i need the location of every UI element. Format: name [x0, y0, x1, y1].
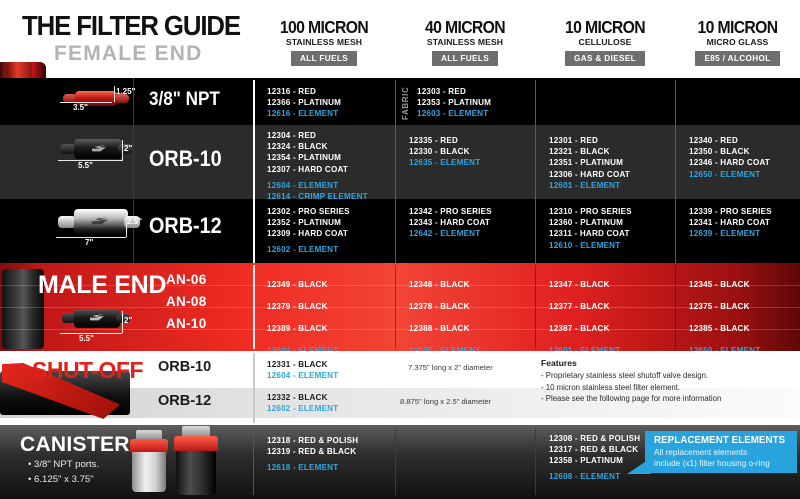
cell-shutoff-orb12: 12332 - BLACK 12602 - ELEMENT	[253, 392, 395, 414]
column-header-40-micron: 40 MICRON STAINLESS MESH ALL FUELS	[395, 18, 535, 66]
female-end-section: 3.5" 1.25" 3/8" NPT 12316 - RED 12366 - …	[0, 78, 800, 263]
column-micron-label: 10 MICRON	[681, 18, 794, 36]
column-fuel-badge: E85 / ALCOHOL	[695, 51, 779, 66]
filter-guide-page: THE FILTER GUIDE FEMALE END 100 MICRON S…	[0, 0, 800, 499]
cell-male-40micron: 12348 - BLACK 12378 - BLACK 12388 - BLAC…	[395, 274, 535, 362]
npt-dim-dia-line	[114, 86, 115, 102]
cell-orb12-40micron: 12342 - PRO SERIES 12343 - HARD COAT 126…	[395, 206, 535, 240]
cell-npt-100micron: 12316 - RED 12366 - PLATINUM 12616 - ELE…	[253, 86, 395, 120]
row-label-npt: 3/8" NPT	[149, 89, 220, 111]
column-fuel-badge: ALL FUELS	[432, 51, 498, 66]
label-column-divider	[133, 78, 134, 263]
cell-canister-100micron: 12318 - RED & POLISH 12319 - RED & BLACK…	[253, 435, 395, 474]
column-header-10-micron-cellulose: 10 MICRON CELLULOSE GAS & DIESEL	[535, 18, 675, 66]
replacement-badge-text: All replacement elements include (x1) fi…	[645, 446, 797, 468]
column-header-10-micron-microglass: 10 MICRON MICRO GLASS E85 / ALCOHOL	[675, 18, 800, 66]
male-dim-dia-line	[122, 311, 123, 333]
canister-column-divider-2	[395, 429, 396, 495]
cell-male-10micron-microglass: 12345 - BLACK 12375 - BLACK 12385 - BLAC…	[675, 274, 800, 362]
page-title: THE FILTER GUIDE	[22, 10, 240, 42]
column-header-100-micron: 100 MICRON STAINLESS MESH ALL FUELS	[253, 18, 395, 66]
canister-bullet-2: • 6.125" x 3.75"	[28, 474, 94, 485]
replacement-badge-title: REPLACEMENT ELEMENTS	[645, 431, 797, 446]
orb12-dim-length: 7"	[85, 238, 93, 247]
column-media-label: CELLULOSE	[535, 37, 675, 47]
features-box: Features - Proprietary stainless steel s…	[541, 358, 791, 405]
features-title: Features	[541, 358, 791, 368]
column-fuel-badge: GAS & DIESEL	[565, 51, 645, 66]
female-end-subtitle: FEMALE END	[54, 42, 203, 66]
column-media-label: STAINLESS MESH	[253, 37, 395, 47]
cell-orb10-100micron: 12304 - RED 12324 - BLACK 12354 - PLATIN…	[253, 130, 395, 202]
male-size-an06: AN-06	[166, 272, 207, 287]
feature-item: - Please see the following page for more…	[541, 393, 791, 405]
male-size-an10: AN-10	[166, 316, 207, 331]
column-media-label: STAINLESS MESH	[395, 37, 535, 47]
male-size-an08: AN-08	[166, 294, 207, 309]
cell-orb12-10micron-microglass: 12339 - PRO SERIES 12341 - HARD COAT 126…	[675, 206, 800, 240]
npt-dim-diameter: 1.25"	[116, 87, 135, 96]
feature-item: - 10 micron stainless steel filter eleme…	[541, 382, 791, 394]
male-dim-diameter: 2"	[124, 316, 132, 325]
shutoff-label-orb10: ORB-10	[158, 359, 211, 375]
male-end-section: MALE END 5.5" 2" AN-06 AN-08 AN-10 12349…	[0, 263, 800, 351]
orb10-dim-length: 5.5"	[78, 161, 93, 170]
cell-orb10-10micron-microglass: 12340 - RED 12350 - BLACK 12346 - HARD C…	[675, 135, 800, 180]
column-micron-label: 40 MICRON	[402, 18, 528, 36]
cell-shutoff-orb10: 12331 - BLACK 12604 - ELEMENT	[253, 359, 395, 381]
npt-dim-length: 3.5"	[73, 103, 88, 112]
canister-title: CANISTER	[20, 433, 130, 457]
orb10-dim-dia-line	[122, 140, 123, 161]
cell-orb12-100micron: 12302 - PRO SERIES 12352 - PLATINUM 1230…	[253, 206, 395, 255]
page-header: THE FILTER GUIDE FEMALE END 100 MICRON S…	[0, 0, 800, 78]
cell-orb10-40micron: 12335 - RED 12330 - BLACK 12635 - ELEMEN…	[395, 135, 535, 169]
shutoff-title: SHUT-OFF	[32, 357, 143, 384]
cell-male-100micron: 12349 - BLACK 12379 - BLACK 12389 - BLAC…	[253, 274, 395, 362]
replacement-elements-badge: REPLACEMENT ELEMENTS All replacement ele…	[645, 431, 797, 473]
column-micron-label: 10 MICRON	[542, 18, 668, 36]
shutoff-dim-orb12: 8.875" long x 2.5" diameter	[400, 397, 491, 406]
row-label-orb12: ORB-12	[149, 213, 222, 239]
orb10-dim-diameter: 2"	[124, 144, 132, 153]
row-label-orb10: ORB-10	[149, 146, 222, 172]
orb12-dim-diameter: 2.5"	[127, 217, 142, 226]
shutoff-label-orb12: ORB-12	[158, 393, 211, 409]
cell-npt-40micron: 12303 - RED 12353 - PLATINUM 12603 - ELE…	[395, 86, 535, 120]
canister-bullet-1: • 3/8" NPT ports.	[28, 459, 99, 470]
cell-orb12-10micron-cellulose: 12310 - PRO SERIES 12360 - PLATINUM 1231…	[535, 206, 675, 251]
shutoff-dim-orb10: 7.375" long x 2" diameter	[408, 363, 493, 372]
cell-orb10-10micron-cellulose: 12301 - RED 12321 - BLACK 12351 - PLATIN…	[535, 135, 675, 191]
column-micron-label: 100 MICRON	[260, 18, 388, 36]
column-media-label: MICRO GLASS	[675, 37, 800, 47]
column-fuel-badge: ALL FUELS	[291, 51, 357, 66]
cell-male-10micron-cellulose: 12347 - BLACK 12377 - BLACK 12387 - BLAC…	[535, 274, 675, 362]
male-dim-length: 5.5"	[79, 334, 94, 343]
male-end-title: MALE END	[38, 271, 166, 300]
feature-item: - Proprietary stainless steel shutoff va…	[541, 370, 791, 382]
